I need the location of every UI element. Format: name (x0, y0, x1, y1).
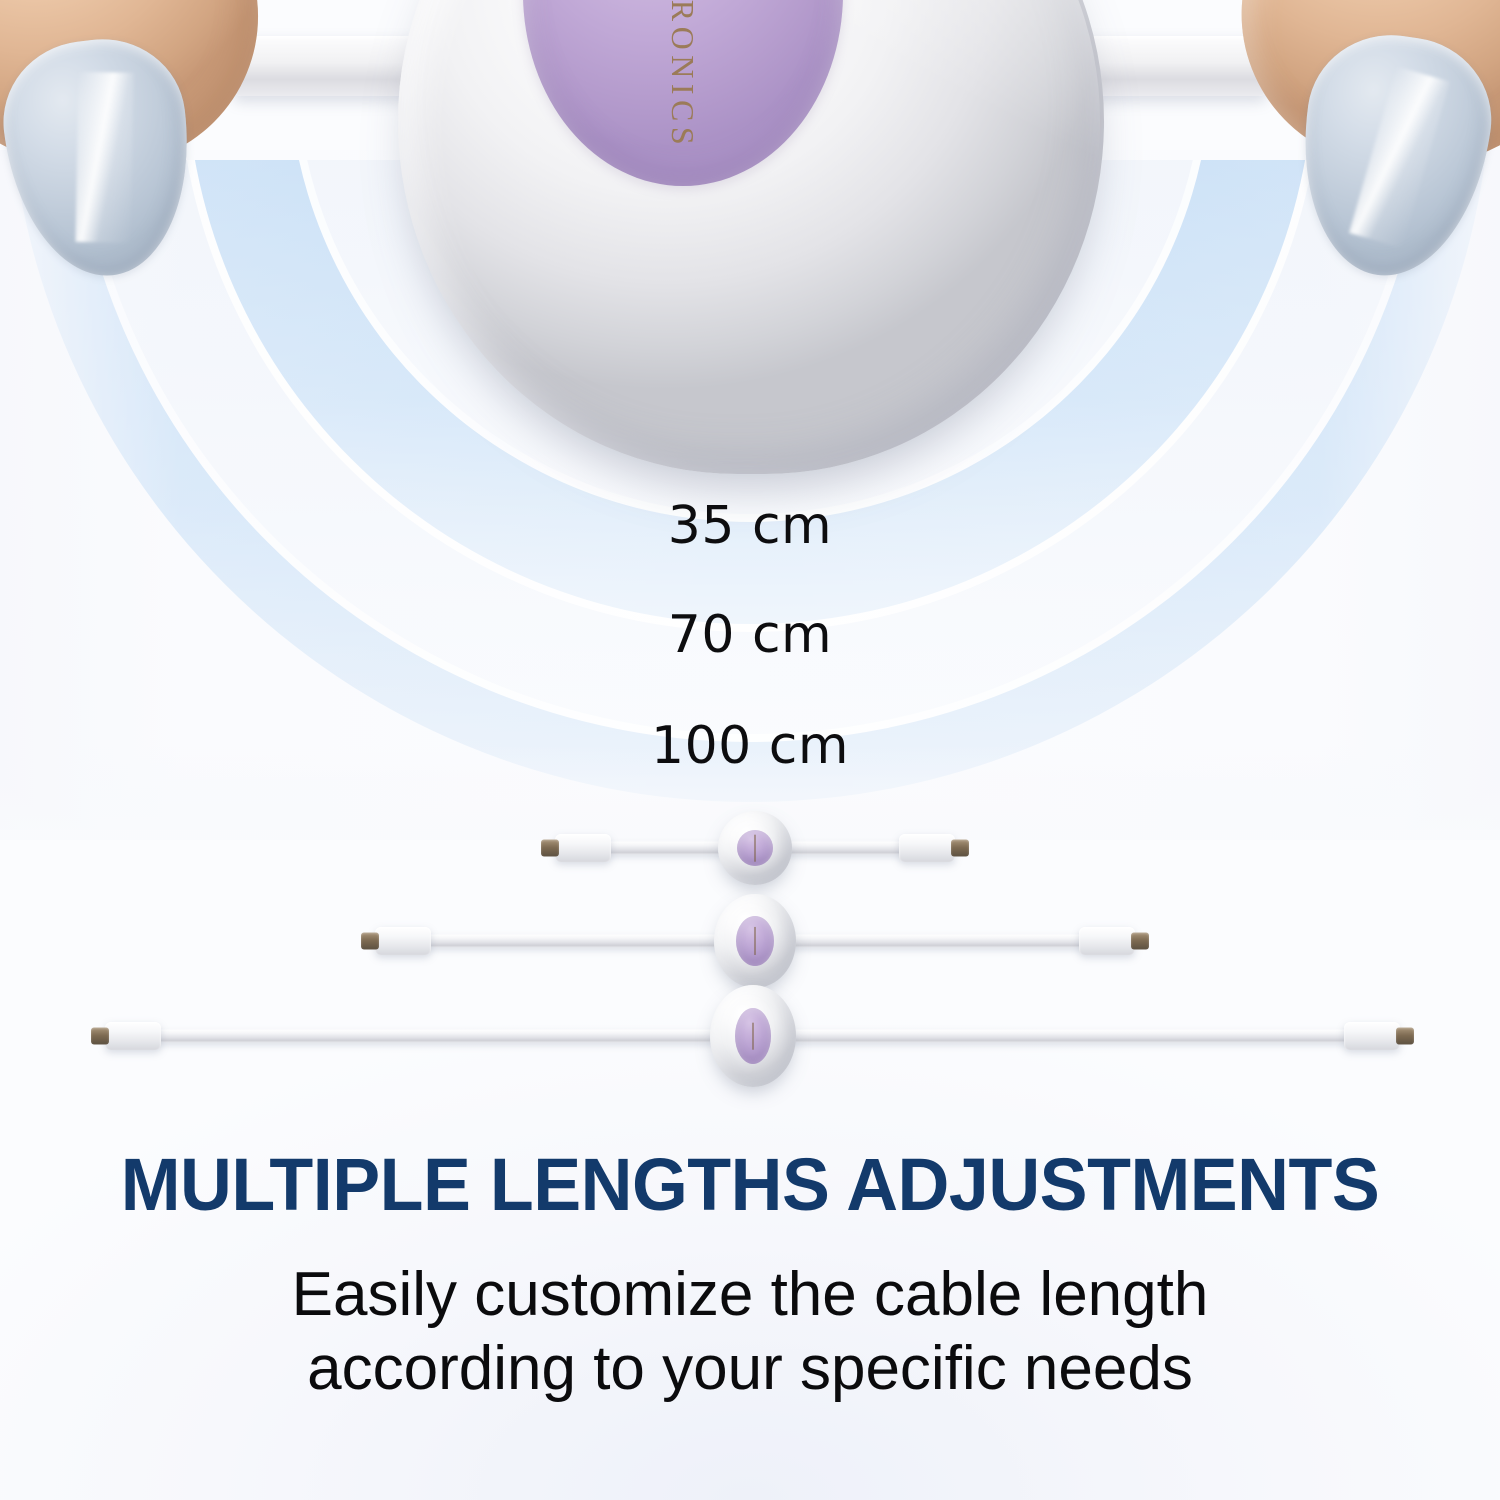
cable-spool-brand-disc (736, 916, 774, 966)
distance-label-35: 35 cm (0, 496, 1500, 556)
usb-c-tip-icon (951, 840, 969, 857)
distance-label-100: 100 cm (0, 716, 1500, 776)
subheadline-line-1: Easily customize the cable length (0, 1258, 1500, 1332)
cable-specimen-35cm (555, 800, 955, 896)
usb-c-plug-right (1079, 927, 1135, 955)
cable-specimen-100cm (105, 988, 1400, 1084)
feature-subheadline: Easily customize the cable length accord… (0, 1258, 1500, 1406)
hero-cable-stem-left (232, 36, 422, 96)
brand-name: PORTRONICS (665, 0, 702, 150)
brand-lockup: PORTRONICS (663, 0, 703, 150)
usb-c-plug-left (375, 927, 431, 955)
cable-spool (718, 811, 792, 885)
subheadline-line-2: according to your specific needs (0, 1332, 1500, 1406)
product-feature-graphic: PORTRONICS 35 cm 70 cm 100 cm (0, 0, 1500, 1500)
usb-c-tip-icon (1131, 933, 1149, 950)
cable-spool-brand-disc (735, 1008, 771, 1064)
hero-cable-stem-right (1078, 36, 1268, 96)
cable-specimen-70cm (375, 893, 1135, 989)
usb-c-tip-icon (91, 1028, 109, 1045)
feature-headline: MULTIPLE LENGTHS ADJUSTMENTS (23, 1142, 1478, 1227)
usb-c-plug-left (105, 1022, 161, 1050)
usb-c-tip-icon (541, 840, 559, 857)
usb-c-plug-right (1344, 1022, 1400, 1050)
distance-label-70: 70 cm (0, 605, 1500, 665)
usb-c-plug-left (555, 834, 611, 862)
usb-c-plug-right (899, 834, 955, 862)
cable-spool (714, 894, 796, 988)
usb-c-tip-icon (361, 933, 379, 950)
usb-c-tip-icon (1396, 1028, 1414, 1045)
cable-spool-brand-disc (737, 830, 773, 866)
cable-spool (710, 985, 796, 1087)
